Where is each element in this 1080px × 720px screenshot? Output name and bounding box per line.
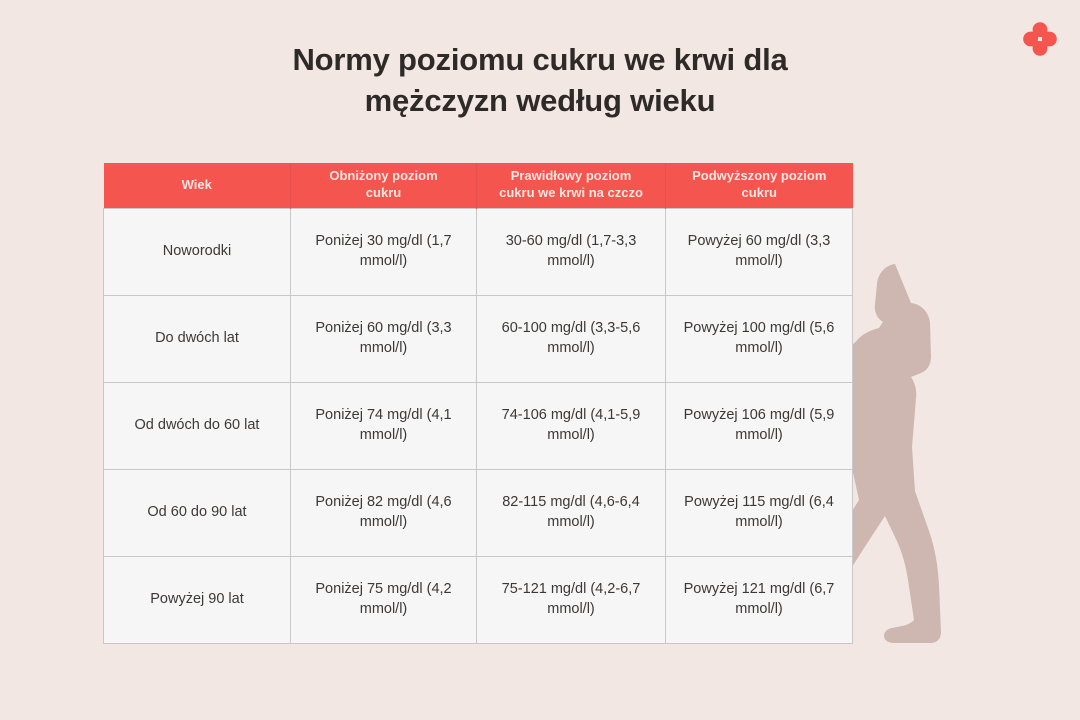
column-header-low-sugar-line-2: cukru — [366, 185, 401, 200]
column-header-normal-sugar: Prawidłowy poziom cukru we krwi na czczo — [477, 163, 666, 208]
cell-age: Powyżej 90 lat — [104, 556, 291, 643]
table-row: Od 60 do 90 lat Poniżej 82 mg/dl (4,6 mm… — [104, 469, 853, 556]
column-header-normal-sugar-line-2: cukru we krwi na czczo — [499, 185, 643, 200]
table-header: Wiek Obniżony poziom cukru Prawidłowy po… — [104, 163, 853, 208]
cell-age: Noworodki — [104, 208, 291, 295]
cell-age: Od 60 do 90 lat — [104, 469, 291, 556]
cell-age: Do dwóch lat — [104, 295, 291, 382]
cell-low-sugar: Poniżej 82 mg/dl (4,6 mmol/l) — [291, 469, 477, 556]
column-header-normal-sugar-line-1: Prawidłowy poziom — [511, 168, 632, 183]
cell-normal-sugar: 82-115 mg/dl (4,6-6,4 mmol/l) — [477, 469, 666, 556]
cell-normal-sugar: 60-100 mg/dl (3,3-5,6 mmol/l) — [477, 295, 666, 382]
column-header-low-sugar-line-1: Obniżony poziom — [329, 168, 437, 183]
page-title-line-2: mężczyzn według wieku — [365, 83, 716, 118]
page-title: Normy poziomu cukru we krwi dla mężczyzn… — [140, 40, 940, 122]
cell-high-sugar: Powyżej 106 mg/dl (5,9 mmol/l) — [666, 382, 853, 469]
brand-logo — [1019, 18, 1061, 60]
cell-normal-sugar: 30-60 mg/dl (1,7-3,3 mmol/l) — [477, 208, 666, 295]
cell-normal-sugar: 75-121 mg/dl (4,2-6,7 mmol/l) — [477, 556, 666, 643]
column-header-high-sugar-line-2: cukru — [742, 185, 777, 200]
cell-low-sugar: Poniżej 75 mg/dl (4,2 mmol/l) — [291, 556, 477, 643]
table-row: Od dwóch do 60 lat Poniżej 74 mg/dl (4,1… — [104, 382, 853, 469]
cell-low-sugar: Poniżej 74 mg/dl (4,1 mmol/l) — [291, 382, 477, 469]
page-title-line-1: Normy poziomu cukru we krwi dla — [292, 42, 787, 77]
table-row: Powyżej 90 lat Poniżej 75 mg/dl (4,2 mmo… — [104, 556, 853, 643]
blood-sugar-norms-table-container: Wiek Obniżony poziom cukru Prawidłowy po… — [103, 163, 852, 644]
four-petal-flower-logo-icon — [1019, 18, 1061, 60]
column-header-high-sugar: Podwyższony poziom cukru — [666, 163, 853, 208]
cell-normal-sugar: 74-106 mg/dl (4,1-5,9 mmol/l) — [477, 382, 666, 469]
table-row: Do dwóch lat Poniżej 60 mg/dl (3,3 mmol/… — [104, 295, 853, 382]
column-header-high-sugar-line-1: Podwyższony poziom — [692, 168, 826, 183]
cell-high-sugar: Powyżej 121 mg/dl (6,7 mmol/l) — [666, 556, 853, 643]
column-header-age-line-1: Wiek — [182, 177, 212, 192]
blood-sugar-norms-table: Wiek Obniżony poziom cukru Prawidłowy po… — [103, 163, 853, 644]
cell-age: Od dwóch do 60 lat — [104, 382, 291, 469]
cell-high-sugar: Powyżej 115 mg/dl (6,4 mmol/l) — [666, 469, 853, 556]
table-row: Noworodki Poniżej 30 mg/dl (1,7 mmol/l) … — [104, 208, 853, 295]
table-header-row: Wiek Obniżony poziom cukru Prawidłowy po… — [104, 163, 853, 208]
cell-high-sugar: Powyżej 100 mg/dl (5,6 mmol/l) — [666, 295, 853, 382]
column-header-age: Wiek — [104, 163, 291, 208]
cell-low-sugar: Poniżej 60 mg/dl (3,3 mmol/l) — [291, 295, 477, 382]
table-body: Noworodki Poniżej 30 mg/dl (1,7 mmol/l) … — [104, 208, 853, 643]
column-header-low-sugar: Obniżony poziom cukru — [291, 163, 477, 208]
cell-high-sugar: Powyżej 60 mg/dl (3,3 mmol/l) — [666, 208, 853, 295]
cell-low-sugar: Poniżej 30 mg/dl (1,7 mmol/l) — [291, 208, 477, 295]
